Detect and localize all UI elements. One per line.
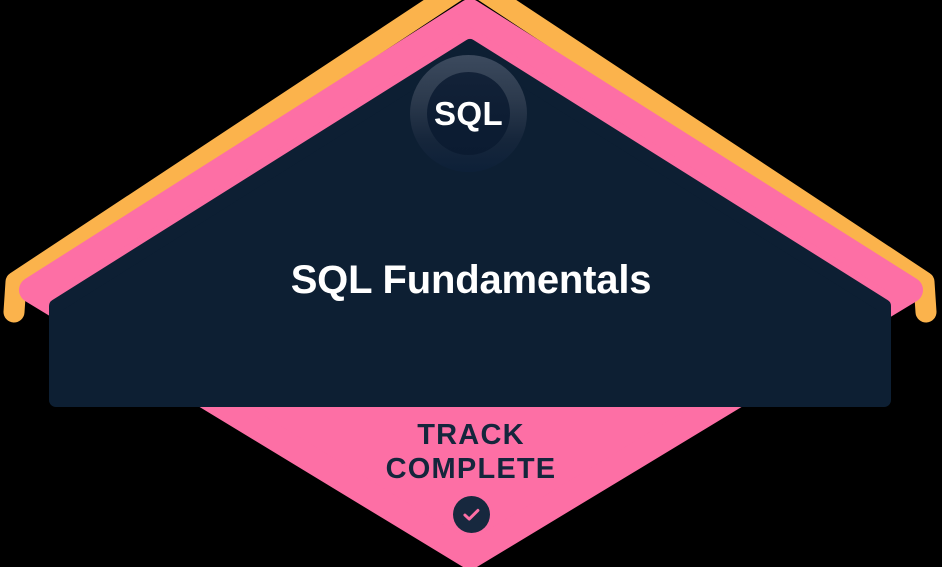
badge-canvas: SQL SQL Fundamentals TRACK COMPLETE: [0, 0, 942, 567]
badge-shape-graphic: [0, 0, 942, 567]
inner-panel: [56, 46, 884, 400]
